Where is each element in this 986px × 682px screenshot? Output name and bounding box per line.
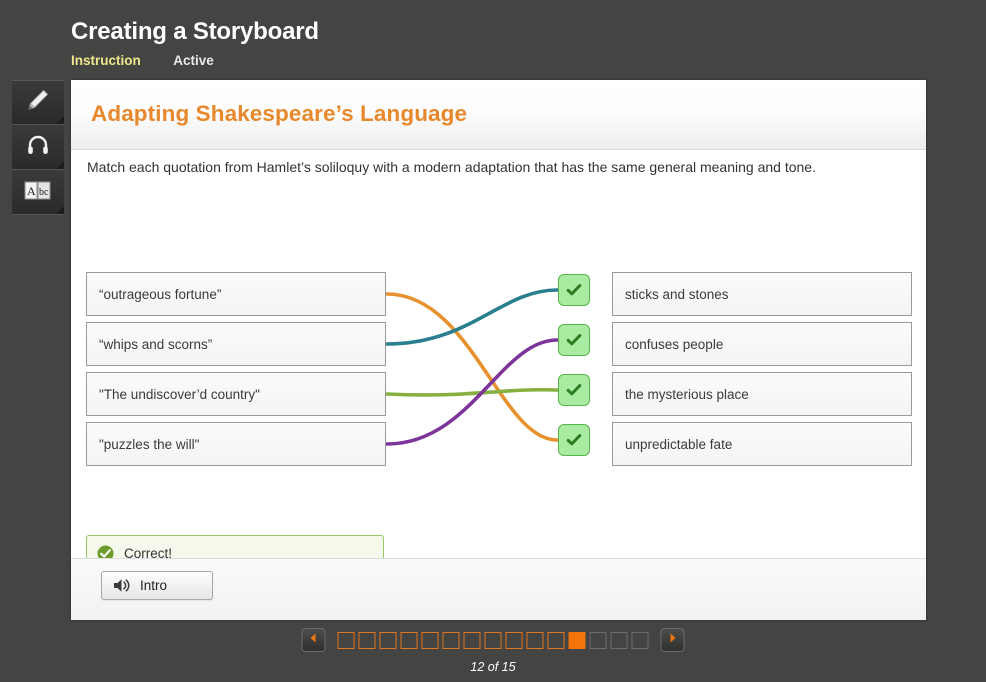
headphones-icon bbox=[25, 132, 51, 163]
page-dot[interactable] bbox=[401, 632, 418, 649]
speaker-icon bbox=[112, 577, 131, 594]
page-counter: 12 of 15 bbox=[470, 660, 515, 674]
content-panel: Adapting Shakespeare’s Language Match ea… bbox=[71, 80, 926, 620]
header-tabs: Instruction Active bbox=[71, 52, 242, 72]
glossary-tool[interactable]: A bc bbox=[12, 170, 64, 215]
page-dot[interactable] bbox=[590, 632, 607, 649]
match-item-right[interactable]: the mysterious place bbox=[612, 372, 912, 416]
page-dot[interactable] bbox=[359, 632, 376, 649]
page-header: Creating a Storyboard Instruction Active bbox=[0, 0, 986, 78]
prev-page-button[interactable] bbox=[302, 628, 326, 652]
lesson-title: Adapting Shakespeare’s Language bbox=[91, 101, 467, 127]
status-badge[interactable] bbox=[558, 274, 590, 306]
page-dot[interactable] bbox=[485, 632, 502, 649]
page-dot[interactable] bbox=[338, 632, 355, 649]
answer-status-column bbox=[558, 274, 598, 474]
tool-rail: A bc bbox=[12, 80, 64, 215]
match-item-left[interactable]: "puzzles the will" bbox=[86, 422, 386, 466]
page-title: Creating a Storyboard bbox=[71, 18, 319, 46]
check-icon bbox=[565, 281, 583, 299]
panel-body: Match each quotation from Hamlet’s solil… bbox=[71, 150, 926, 558]
tab-instruction[interactable]: Instruction bbox=[71, 53, 141, 68]
panel-header: Adapting Shakespeare’s Language bbox=[71, 80, 926, 150]
page-dot[interactable] bbox=[464, 632, 481, 649]
page-dot-current[interactable] bbox=[569, 632, 586, 649]
panel-footer: Intro bbox=[71, 558, 926, 620]
page-dot[interactable] bbox=[380, 632, 397, 649]
match-item-label: “whips and scorns” bbox=[99, 337, 212, 352]
match-item-label: confuses people bbox=[625, 337, 723, 352]
pagination-controls bbox=[302, 628, 685, 652]
page-dot[interactable] bbox=[632, 632, 649, 649]
match-item-left[interactable]: "The undiscover’d country" bbox=[86, 372, 386, 416]
dictionary-icon: A bc bbox=[23, 178, 53, 207]
audio-intro-label: Intro bbox=[140, 578, 167, 593]
status-badge[interactable] bbox=[558, 374, 590, 406]
tab-active[interactable]: Active bbox=[173, 53, 214, 68]
triangle-right-icon bbox=[667, 631, 679, 649]
triangle-left-icon bbox=[308, 631, 320, 649]
match-item-right[interactable]: confuses people bbox=[612, 322, 912, 366]
match-item-label: “outrageous fortune” bbox=[99, 287, 221, 302]
page-dot[interactable] bbox=[443, 632, 460, 649]
status-badge[interactable] bbox=[558, 424, 590, 456]
matching-activity: “outrageous fortune” “whips and scorns” … bbox=[71, 272, 926, 468]
match-item-label: sticks and stones bbox=[625, 287, 729, 302]
check-icon bbox=[565, 381, 583, 399]
check-icon bbox=[565, 431, 583, 449]
audio-intro-button[interactable]: Intro bbox=[101, 571, 213, 600]
match-item-label: the mysterious place bbox=[625, 387, 749, 402]
svg-text:bc: bc bbox=[39, 187, 49, 198]
pagination-bar: 12 of 15 bbox=[0, 628, 986, 682]
svg-text:A: A bbox=[27, 184, 36, 198]
match-item-label: "The undiscover’d country" bbox=[99, 387, 260, 402]
page-dot[interactable] bbox=[422, 632, 439, 649]
page-dot[interactable] bbox=[527, 632, 544, 649]
audio-tool[interactable] bbox=[12, 125, 64, 170]
quotation-column: “outrageous fortune” “whips and scorns” … bbox=[86, 272, 386, 472]
pencil-tool[interactable] bbox=[12, 80, 64, 125]
match-item-label: unpredictable fate bbox=[625, 437, 732, 452]
page-dot[interactable] bbox=[548, 632, 565, 649]
instruction-text: Match each quotation from Hamlet’s solil… bbox=[87, 158, 887, 177]
pencil-icon bbox=[25, 87, 51, 118]
match-item-right[interactable]: sticks and stones bbox=[612, 272, 912, 316]
page-dots bbox=[338, 632, 649, 649]
page-dot[interactable] bbox=[506, 632, 523, 649]
adaptation-column: sticks and stones confuses people the my… bbox=[612, 272, 912, 472]
match-item-label: "puzzles the will" bbox=[99, 437, 199, 452]
match-item-right[interactable]: unpredictable fate bbox=[612, 422, 912, 466]
status-badge[interactable] bbox=[558, 324, 590, 356]
check-icon bbox=[565, 331, 583, 349]
page-dot[interactable] bbox=[611, 632, 628, 649]
match-item-left[interactable]: “outrageous fortune” bbox=[86, 272, 386, 316]
app-root: Creating a Storyboard Instruction Active bbox=[0, 0, 986, 682]
next-page-button[interactable] bbox=[661, 628, 685, 652]
match-item-left[interactable]: “whips and scorns” bbox=[86, 322, 386, 366]
